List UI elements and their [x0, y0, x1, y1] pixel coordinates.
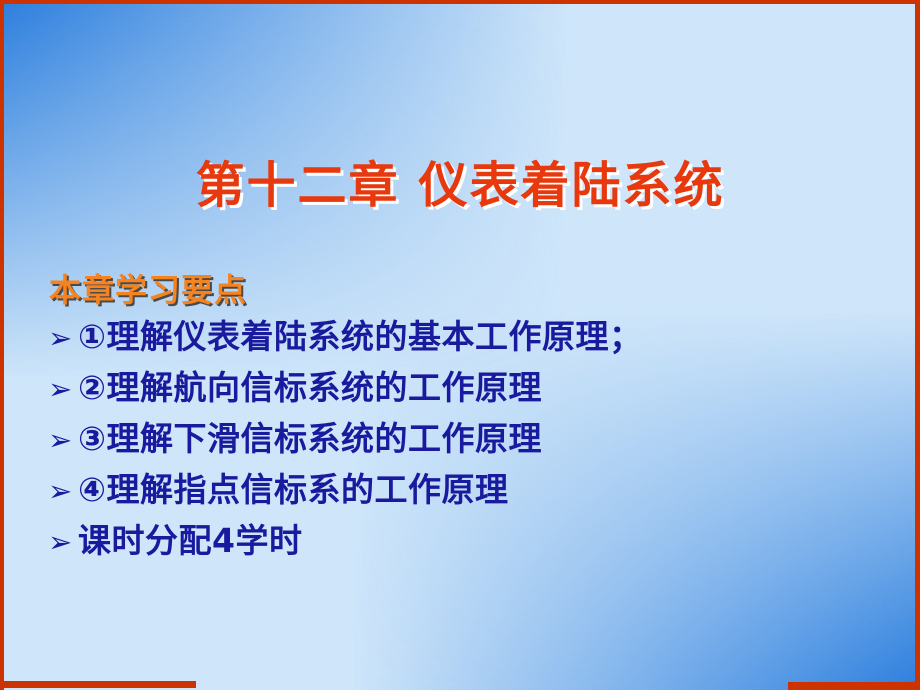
footer-accent-bar-right [788, 682, 920, 690]
presentation-slide: 第十二章 仪表着陆系统 本章学习要点 ➢ ①理解仪表着陆系统的基本工作原理； ➢… [0, 0, 920, 690]
arrowhead-bullet-icon: ➢ [48, 467, 78, 516]
slide-content: 第十二章 仪表着陆系统 本章学习要点 ➢ ①理解仪表着陆系统的基本工作原理； ➢… [0, 0, 920, 690]
arrowhead-bullet-icon: ➢ [48, 314, 78, 363]
arrowhead-bullet-icon: ➢ [48, 518, 78, 567]
list-item-label: ③理解下滑信标系统的工作原理 [78, 414, 542, 463]
list-item-label: ②理解航向信标系统的工作原理 [78, 363, 542, 412]
list-item-label: ①理解仪表着陆系统的基本工作原理； [78, 312, 642, 361]
list-item-label: ④理解指点信标系的工作原理 [78, 465, 508, 514]
list-item: ➢ ②理解航向信标系统的工作原理 [48, 363, 642, 414]
list-item: ➢ 课时分配4学时 [48, 516, 642, 567]
list-item: ➢ ④理解指点信标系的工作原理 [48, 465, 642, 516]
list-item-label: 课时分配4学时 [78, 516, 302, 565]
arrowhead-bullet-icon: ➢ [48, 416, 78, 465]
arrowhead-bullet-icon: ➢ [48, 365, 78, 414]
list-item: ➢ ③理解下滑信标系统的工作原理 [48, 414, 642, 465]
learning-objectives-list: ➢ ①理解仪表着陆系统的基本工作原理； ➢ ②理解航向信标系统的工作原理 ➢ ③… [48, 312, 642, 567]
footer-accent-bar-left [0, 681, 196, 688]
section-heading: 本章学习要点 [49, 265, 247, 311]
list-item: ➢ ①理解仪表着陆系统的基本工作原理； [48, 312, 642, 363]
page-title: 第十二章 仪表着陆系统 [0, 146, 920, 217]
